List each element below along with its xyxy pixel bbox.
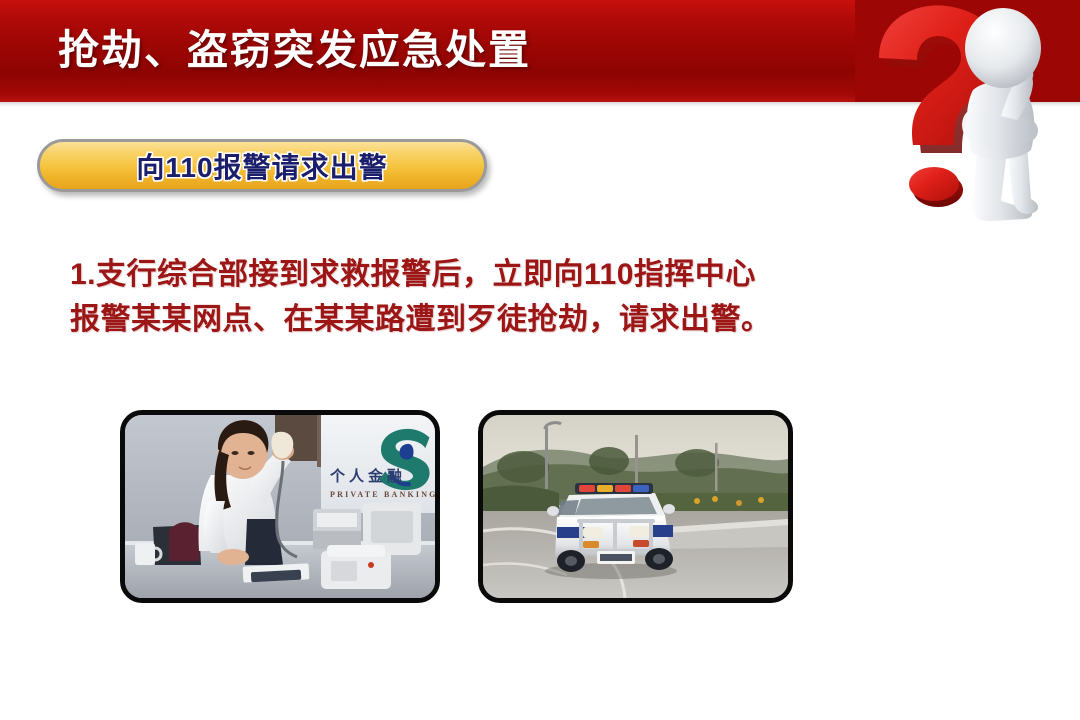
body-paragraph: 1.支行综合部接到求救报警后，立即向110指挥中心 报警某某网点、在某某路遭到歹… [70,252,890,342]
svg-text:个人金融: 个人金融 [329,467,406,485]
photo-phone-call-image: 个人金融 PRIVATE BANKING [125,415,435,598]
section-heading-pill: 向110报警请求出警 [37,139,487,192]
body-line-1: 1.支行综合部接到求救报警后，立即向110指挥中心 [70,252,890,297]
svg-text:PRIVATE BANKING: PRIVATE BANKING [330,490,435,499]
header-banner-underline [0,102,1080,107]
photo-phone-call: 个人金融 PRIVATE BANKING [120,410,440,603]
page-title: 抢劫、盗窃突发应急处置 [58,19,531,81]
photo-police-car-image [483,415,788,598]
slide-canvas: 抢劫、盗窃突发应急处置 [0,0,1080,720]
photo-police-car [478,410,793,603]
section-heading-label: 向110报警请求出警 [136,146,387,186]
question-mark-dot [909,167,959,201]
body-line-2: 报警某某网点、在某某路遭到歹徒抢劫，请求出警。 [70,297,890,342]
question-mark-dot-shadow [913,173,963,207]
